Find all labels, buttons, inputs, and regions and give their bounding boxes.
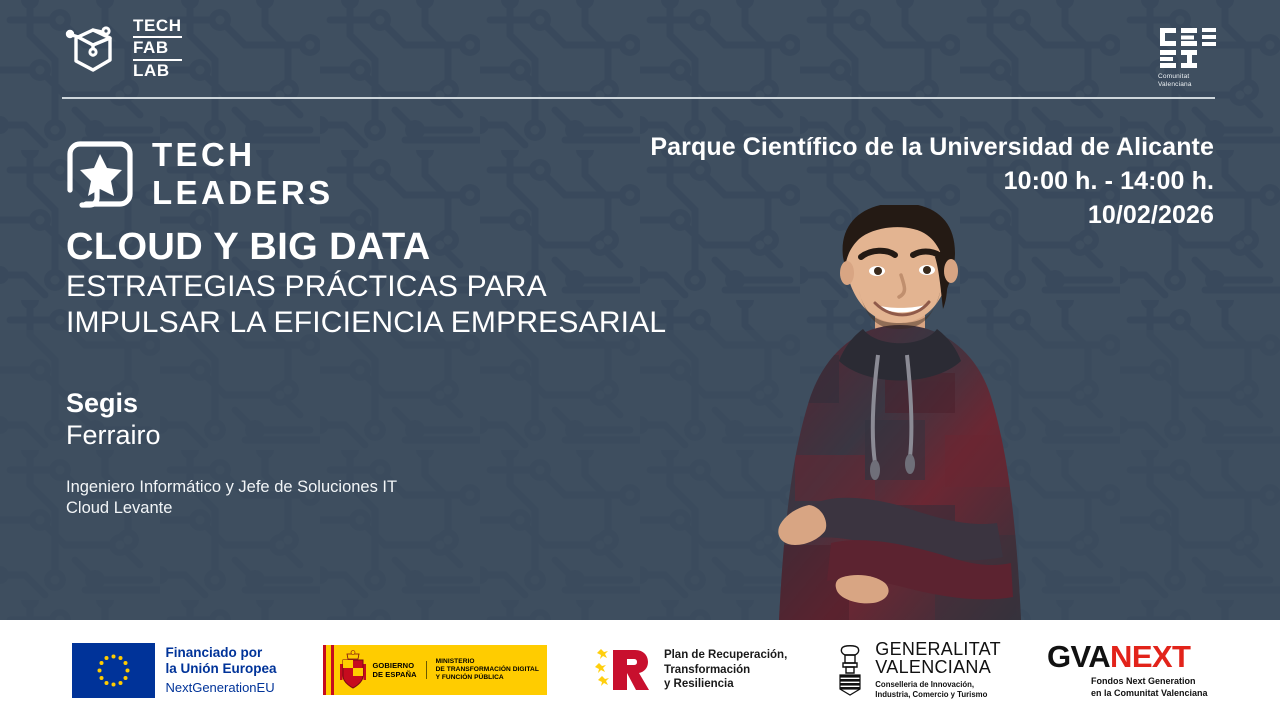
speaker-first-name: Segis [66, 388, 397, 420]
fablab-line-3: LAB [133, 61, 182, 81]
generalitat-crest-icon [833, 644, 867, 696]
gobierno-line-1: GOBIERNO [373, 661, 417, 670]
tech-leaders-word-2: LEADERS [152, 174, 334, 212]
eu-line-2: la Unión Europea [165, 661, 276, 677]
gvanext-sub-1: Fondos Next Generation [1091, 676, 1208, 688]
ministerio-line-2: DE TRANSFORMACIÓN DIGITAL [436, 666, 539, 674]
ceei-sub-line-2: Valenciana [1158, 81, 1218, 89]
speaker-role: Ingeniero Informático y Jefe de Solucion… [66, 477, 397, 498]
eu-line-3: NextGenerationEU [165, 678, 276, 696]
prtr-line-3: y Resiliencia [664, 677, 787, 691]
gobierno-line-2: DE ESPAÑA [373, 670, 417, 679]
page-title: CLOUD Y BIG DATA ESTRATEGIAS PRÁCTICAS P… [66, 226, 666, 341]
prtr-r-monogram-icon [593, 647, 655, 693]
prtr-line-2: Transformación [664, 663, 787, 677]
ministerio-line-3: Y FUNCIÓN PÚBLICA [436, 674, 539, 682]
speaker-last-name: Ferrairo [66, 420, 397, 452]
generalitat-valenciana-logo: GENERALITAT VALENCIANA Conselleria de In… [833, 640, 1001, 701]
gva-next-logo: GVA NEXT Fondos Next Generation en la Co… [1047, 641, 1208, 699]
speaker-photo [735, 205, 1065, 620]
title-line-3: IMPULSAR LA EFICIENCIA EMPRESARIAL [66, 305, 666, 341]
eu-flag-icon [72, 643, 155, 698]
title-line-1: CLOUD Y BIG DATA [66, 226, 666, 269]
venue-place: Parque Científico de la Universidad de A… [650, 130, 1214, 164]
eu-funding-logo: Financiado por la Unión Europea NextGene… [72, 643, 276, 698]
gvanext-word-1: GVA [1047, 641, 1110, 672]
generalitat-line-1: GENERALITAT [875, 640, 1001, 659]
tech-leaders-word-1: TECH [152, 136, 334, 174]
speaker-company: Cloud Levante [66, 498, 397, 519]
eu-line-1: Financiado por [165, 645, 276, 661]
conselleria-line-1: Conselleria de Innovación, [875, 680, 1001, 690]
gobierno-espana-logo: GOBIERNO DE ESPAÑA MINISTERIO DE TRANSFO… [323, 645, 547, 695]
ministerio-line-1: MINISTERIO [436, 658, 539, 666]
cube-network-icon [62, 19, 124, 79]
star-in-rounded-square-icon [66, 140, 134, 208]
gvanext-word-2: NEXT [1110, 641, 1190, 672]
title-line-2: ESTRATEGIAS PRÁCTICAS PARA [66, 269, 666, 305]
circuit-background-pattern [0, 0, 1280, 720]
ceei-mark-icon [1158, 26, 1218, 70]
speaker-block: Segis Ferrairo Ingeniero Informático y J… [66, 388, 397, 518]
funding-logos-footer: Financiado por la Unión Europea NextGene… [0, 620, 1280, 720]
ceei-sub-line-1: Comunitat [1158, 73, 1218, 81]
spain-coat-of-arms-icon [338, 650, 368, 690]
ceei-logo: Comunitat Valenciana [1152, 26, 1218, 89]
plan-recuperacion-logo: Plan de Recuperación, Transformación y R… [593, 647, 787, 693]
prtr-line-1: Plan de Recuperación, [664, 648, 787, 662]
tech-fab-lab-logo: TECH FAB LAB [62, 16, 182, 81]
venue-time: 10:00 h. - 14:00 h. [650, 164, 1214, 198]
event-poster: TECH FAB LAB [0, 0, 1280, 720]
generalitat-line-2: VALENCIANA [875, 658, 1001, 677]
fablab-line-2: FAB [133, 38, 182, 58]
tech-leaders-logo: TECH LEADERS [66, 136, 334, 213]
gvanext-sub-2: en la Comunitat Valenciana [1091, 688, 1208, 700]
conselleria-line-2: Industria, Comercio y Turismo [875, 690, 1001, 700]
spain-flag-bars-icon [323, 645, 334, 695]
fablab-line-1: TECH [133, 16, 182, 36]
header-divider [62, 97, 1215, 99]
